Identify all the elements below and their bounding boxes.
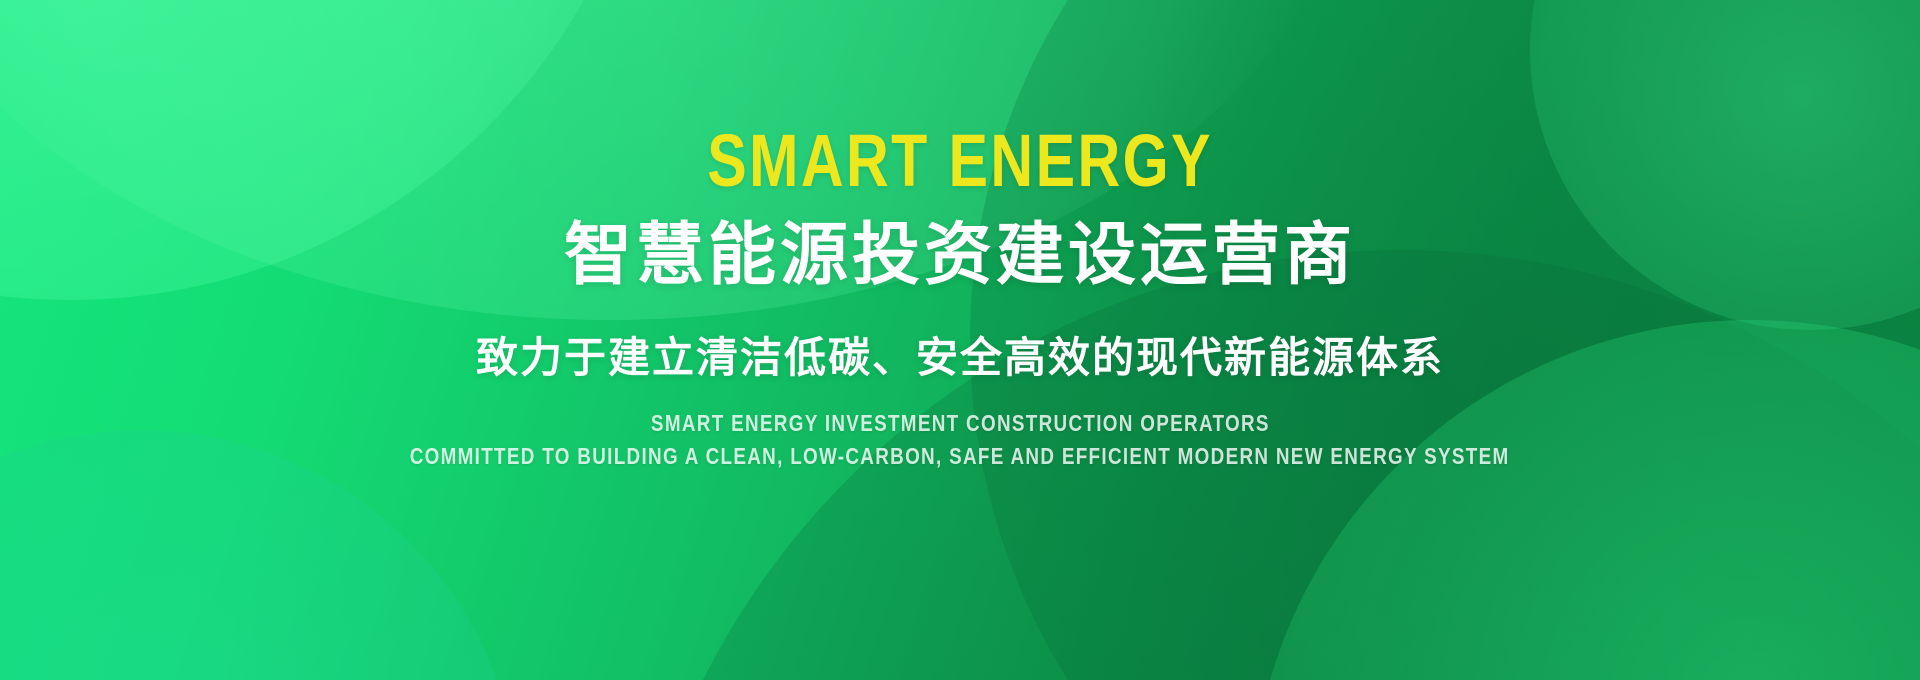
banner-headline-english: SMART ENERGY <box>707 124 1213 198</box>
banner-headline-chinese: 智慧能源投资建设运营商 <box>564 220 1356 291</box>
banner-tagline-english-secondary: COMMITTED TO BUILDING A CLEAN, LOW-CARBO… <box>410 442 1510 471</box>
hero-banner: SMART ENERGY 智慧能源投资建设运营商 致力于建立清洁低碳、安全高效的… <box>0 0 1920 680</box>
banner-content: SMART ENERGY 智慧能源投资建设运营商 致力于建立清洁低碳、安全高效的… <box>0 0 1920 680</box>
banner-subheadline-chinese: 致力于建立清洁低碳、安全高效的现代新能源体系 <box>476 335 1444 381</box>
banner-tagline-english-primary: SMART ENERGY INVESTMENT CONSTRUCTION OPE… <box>651 409 1270 438</box>
